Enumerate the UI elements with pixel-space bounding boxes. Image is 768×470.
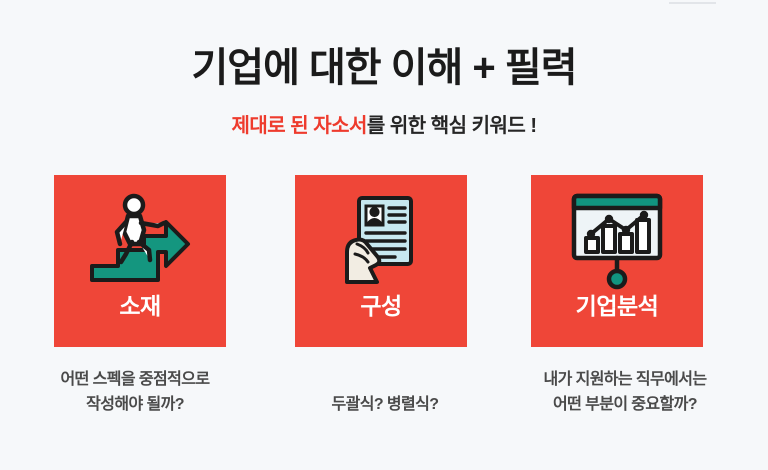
caption-line: 내가 지원하는 직무에서는 <box>500 367 750 392</box>
card-guseong[interactable]: 구성 <box>295 175 467 347</box>
hand-holding-resume-icon <box>333 191 429 289</box>
card-caption-gieopbunseok: 내가 지원하는 직무에서는 어떤 부분이 중요할까? <box>500 367 750 417</box>
caption-line: 어떤 스펙을 중점적으로 <box>10 367 260 392</box>
person-climbing-stairs-arrow-icon <box>84 191 196 289</box>
top-edge-artifact <box>669 2 716 4</box>
presentation-bar-chart-icon <box>566 191 668 289</box>
card-group: 소재 <box>54 175 704 347</box>
card-label: 구성 <box>360 291 401 321</box>
page-subtitle: 제대로 된 자소서를 위한 핵심 키워드 ! <box>0 112 768 140</box>
slide-root: 기업에 대한 이해 + 필력 제대로 된 자소서를 위한 핵심 키워드 ! <box>0 0 768 470</box>
subtitle-highlight: 제대로 된 자소서 <box>231 115 366 137</box>
page-title: 기업에 대한 이해 + 필력 <box>0 44 768 92</box>
caption-line: 작성해야 될까? <box>10 392 260 417</box>
card-label: 기업분석 <box>576 291 659 321</box>
caption-line: 어떤 부분이 중요할까? <box>500 392 750 417</box>
card-label: 소재 <box>119 291 160 321</box>
card-sojae[interactable]: 소재 <box>54 175 226 347</box>
card-caption-sojae: 어떤 스펙을 중점적으로 작성해야 될까? <box>10 367 260 417</box>
card-caption-guseong: 두괄식? 병렬식? <box>260 392 510 417</box>
card-gieopbunseok[interactable]: 기업분석 <box>531 175 703 347</box>
subtitle-rest: 를 위한 핵심 키워드 ! <box>367 115 537 137</box>
caption-line: 두괄식? 병렬식? <box>260 392 510 417</box>
